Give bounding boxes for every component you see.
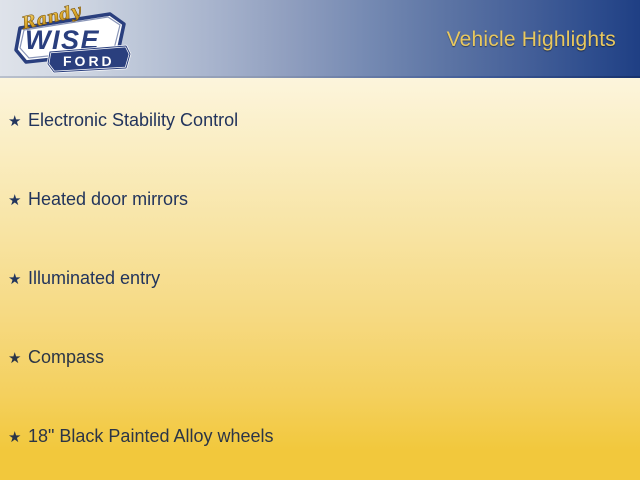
star-bullet-icon: ★ xyxy=(8,193,28,208)
list-item: ★ Compass xyxy=(8,347,104,369)
list-item: ★ Heated door mirrors xyxy=(8,189,188,211)
list-item: ★ Electronic Stability Control xyxy=(8,110,238,132)
vehicle-highlights-list: ★ Electronic Stability Control ★ Heated … xyxy=(0,76,640,480)
list-item: ★ Illuminated entry xyxy=(8,268,160,290)
list-item-label: 18" Black Painted Alloy wheels xyxy=(28,426,274,448)
page-title: Vehicle Highlights xyxy=(447,28,616,52)
vehicle-highlights-page: WISE FORD Randy Vehicle Highlights ★ Ele… xyxy=(0,0,640,480)
star-bullet-icon: ★ xyxy=(8,114,28,129)
star-bullet-icon: ★ xyxy=(8,430,28,445)
list-item-label: Illuminated entry xyxy=(28,268,160,290)
page-header: WISE FORD Randy Vehicle Highlights xyxy=(0,0,640,76)
star-bullet-icon: ★ xyxy=(8,272,28,287)
star-bullet-icon: ★ xyxy=(8,351,28,366)
list-item: ★ 18" Black Painted Alloy wheels xyxy=(8,426,274,448)
list-item-label: Electronic Stability Control xyxy=(28,110,238,132)
list-item-label: Compass xyxy=(28,347,104,369)
list-item-label: Heated door mirrors xyxy=(28,189,188,211)
randy-wise-ford-logo[interactable]: WISE FORD Randy xyxy=(6,2,134,76)
logo-ford-text: FORD xyxy=(63,53,115,69)
